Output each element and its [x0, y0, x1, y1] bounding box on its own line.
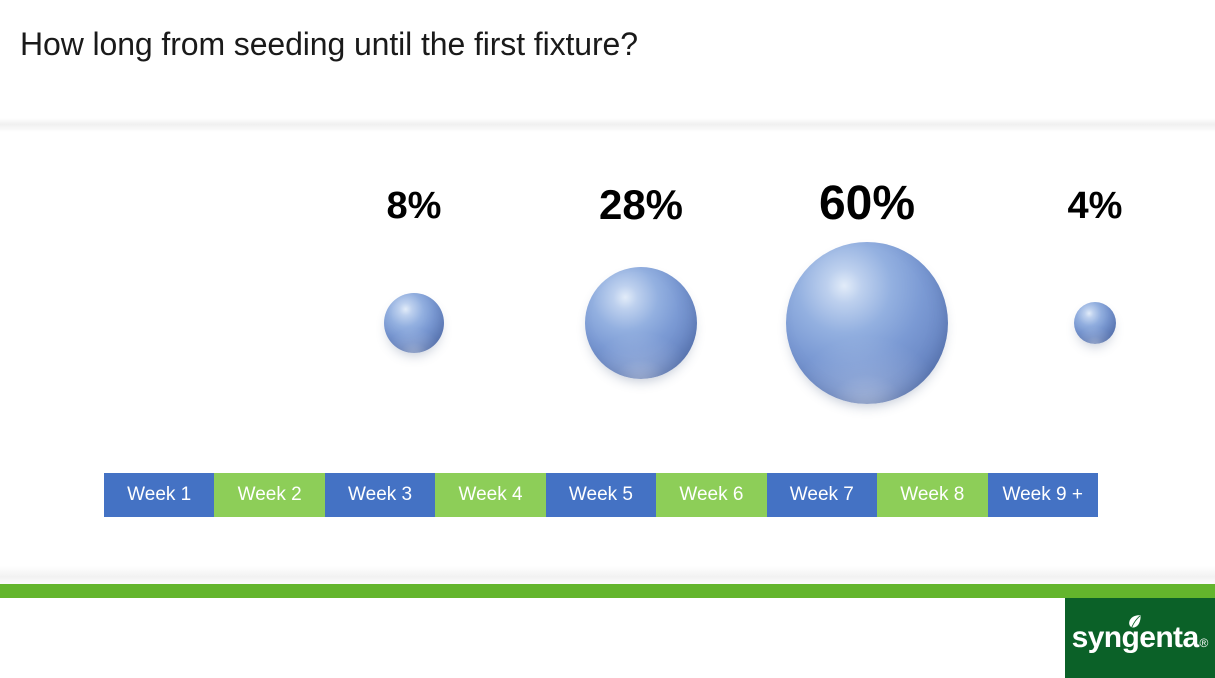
timeline-cell-week-7[interactable]: Week 7	[767, 473, 877, 517]
timeline-cell-week-5[interactable]: Week 5	[546, 473, 656, 517]
sphere-icon	[1074, 302, 1116, 344]
bubble-group-3: 60%	[787, 132, 947, 462]
sphere-icon	[786, 242, 948, 404]
bubble-value-label-1: 8%	[387, 187, 442, 225]
bubble-shape-4	[1074, 302, 1116, 344]
bubble-value-label-4: 4%	[1068, 187, 1123, 225]
registered-mark-icon: ®	[1200, 636, 1209, 650]
timeline-cell-week-9-plus[interactable]: Week 9 +	[988, 473, 1098, 517]
week-timeline: Week 1 Week 2 Week 3 Week 4 Week 5 Week …	[104, 473, 1098, 517]
syngenta-logo: syngenta®	[1065, 598, 1215, 678]
slide-canvas: How long from seeding until the first fi…	[0, 0, 1215, 678]
bubble-group-4: 4%	[1015, 132, 1175, 462]
timeline-cell-week-3[interactable]: Week 3	[325, 473, 435, 517]
timeline-cell-week-4[interactable]: Week 4	[435, 473, 545, 517]
bubble-value-label-2: 28%	[599, 184, 683, 226]
sphere-icon	[585, 267, 697, 379]
timeline-cell-week-8[interactable]: Week 8	[877, 473, 987, 517]
bubble-shape-3	[786, 242, 948, 404]
timeline-cell-week-1[interactable]: Week 1	[104, 473, 214, 517]
timeline-cell-week-6[interactable]: Week 6	[656, 473, 766, 517]
bubble-chart: 8% 28% 60% 4%	[0, 132, 1215, 462]
leaf-icon	[1127, 614, 1142, 629]
bubble-group-1: 8%	[334, 132, 494, 462]
bubble-shape-1	[384, 293, 444, 353]
footer-green-bar	[0, 584, 1215, 598]
bubble-value-label-3: 60%	[819, 180, 915, 228]
timeline-cell-week-2[interactable]: Week 2	[214, 473, 324, 517]
bubble-shape-2	[585, 267, 697, 379]
footer-divider	[0, 566, 1215, 584]
logo-inner: syngenta®	[1072, 623, 1209, 653]
sphere-icon	[384, 293, 444, 353]
page-title: How long from seeding until the first fi…	[20, 26, 638, 63]
header-divider	[0, 118, 1215, 132]
bubble-group-2: 28%	[561, 132, 721, 462]
